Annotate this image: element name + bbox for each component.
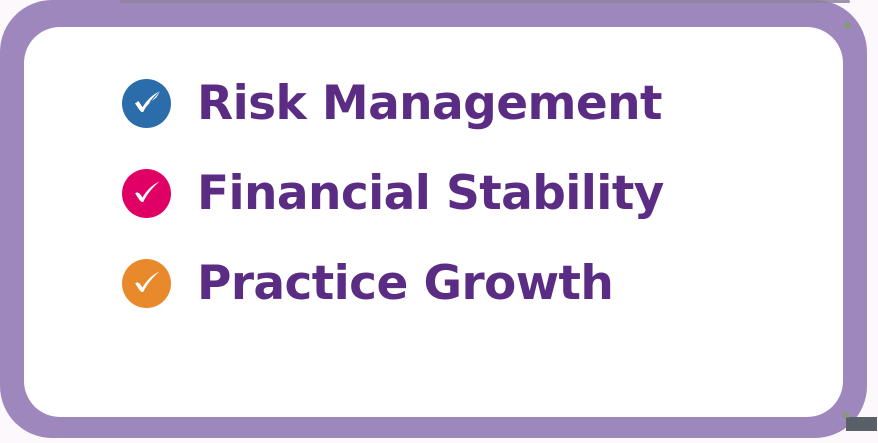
green-speck-artifact [843,412,849,418]
list-item-label: Financial Stability [197,170,664,217]
check-circle-icon [122,169,171,218]
list-item: Risk Management [122,79,782,128]
check-circle-icon [122,259,171,308]
list-item: Financial Stability [122,169,782,218]
corner-artifact-block [846,417,877,431]
list-item-label: Practice Growth [197,260,613,307]
feature-list: Risk Management Financial Stability Prac… [122,79,782,308]
check-circle-icon [122,79,171,128]
frame-top-edge [120,0,850,3]
list-item: Practice Growth [122,259,782,308]
list-item-label: Risk Management [197,80,662,127]
green-speck-artifact [845,22,850,29]
